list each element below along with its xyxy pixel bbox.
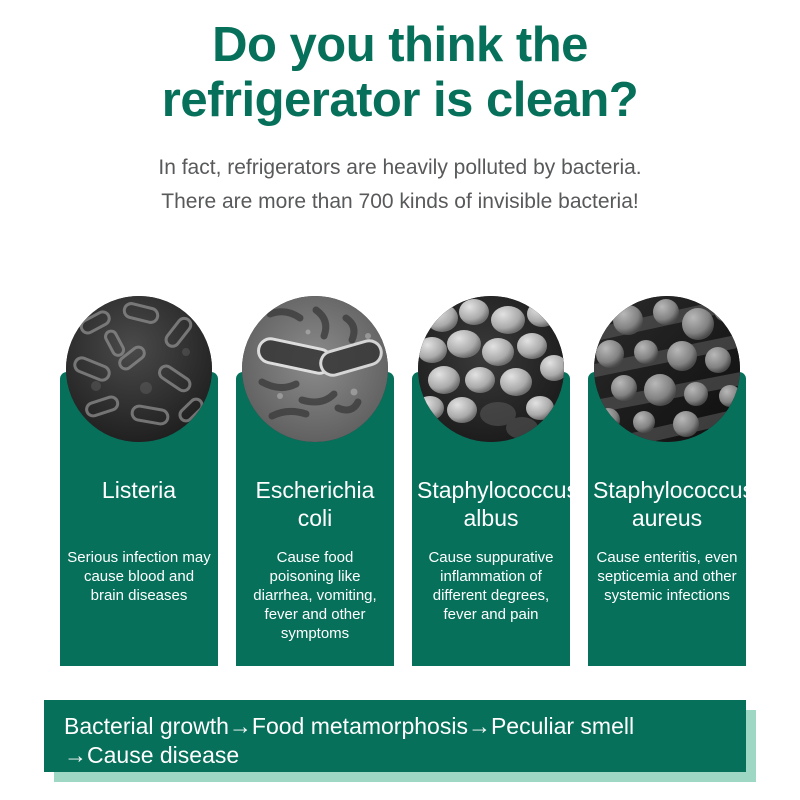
summary-banner: Bacterial growth→Food metamorphosis→Pecu… (44, 700, 756, 782)
ecoli-micrograph-icon (242, 296, 388, 442)
bacteria-description: Serious infection may cause blood and br… (65, 532, 213, 605)
page-title-line-1: Do you think the (0, 18, 800, 73)
staph-aureus-micrograph-icon (594, 296, 740, 442)
banner-body: Bacterial growth→Food metamorphosis→Pecu… (44, 700, 746, 772)
bacteria-card[interactable]: Escherichia coli Cause food poisoning li… (236, 372, 394, 666)
page-title: Do you think the refrigerator is clean? (0, 0, 800, 129)
bacteria-description: Cause food poisoning like diarrhea, vomi… (241, 532, 389, 643)
bacteria-description: Cause suppurative inflammation of differ… (417, 532, 565, 624)
staph-albus-micrograph-icon (418, 296, 564, 442)
bacteria-card[interactable]: Staphylococcus albus Cause suppurative i… (412, 372, 570, 666)
bacteria-description: Cause enteritis, even septicemia and oth… (593, 532, 741, 605)
page-title-line-2: refrigerator is clean? (0, 73, 800, 128)
bacteria-card[interactable]: Staphylococcus aureus Cause enteritis, e… (588, 372, 746, 666)
bacteria-card-list: Listeria Serious infection may cause blo… (60, 372, 746, 666)
page-subtitle-line-1: In fact, refrigerators are heavily pollu… (0, 151, 800, 185)
page-subtitle: In fact, refrigerators are heavily pollu… (0, 129, 800, 219)
page-subtitle-line-2: There are more than 700 kinds of invisib… (0, 185, 800, 219)
listeria-micrograph-icon (66, 296, 212, 442)
bacteria-card[interactable]: Listeria Serious infection may cause blo… (60, 372, 218, 666)
banner-text: Bacterial growth→Food metamorphosis→Pecu… (64, 712, 728, 770)
